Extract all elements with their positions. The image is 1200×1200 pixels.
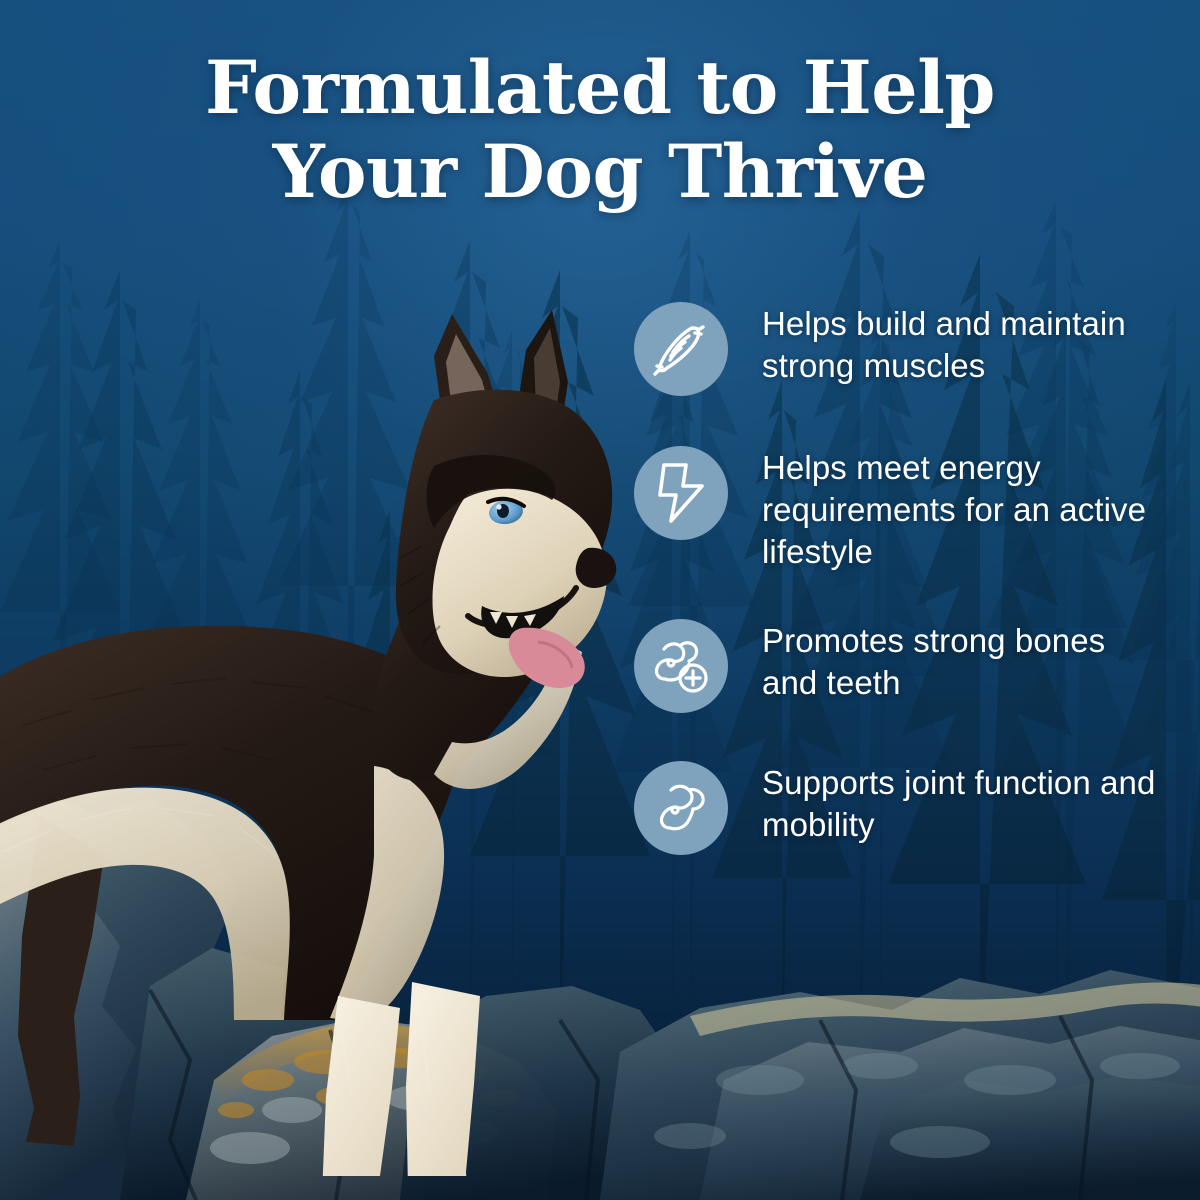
benefit-label: Promotes strong bones and teeth [762,617,1162,704]
benefit-label: Helps meet energy requirements for an ac… [762,444,1162,573]
promo-banner: Formulated to Help Your Dog Thrive [0,0,1200,1200]
benefits-list: Helps build and maintain strong muscles … [634,300,1194,855]
husky-photo [0,296,662,1176]
benefit-label: Supports joint function and mobility [762,759,1162,846]
benefit-label: Helps build and maintain strong muscles [762,300,1162,387]
joint-icon [634,761,728,855]
bone-plus-icon [634,619,728,713]
benefit-item: Promotes strong bones and teeth [634,617,1194,713]
benefit-item: Helps meet energy requirements for an ac… [634,444,1194,573]
benefit-item: Supports joint function and mobility [634,759,1194,855]
muscle-icon [634,302,728,396]
benefit-item: Helps build and maintain strong muscles [634,300,1194,396]
lightning-bolt-icon [634,446,728,540]
